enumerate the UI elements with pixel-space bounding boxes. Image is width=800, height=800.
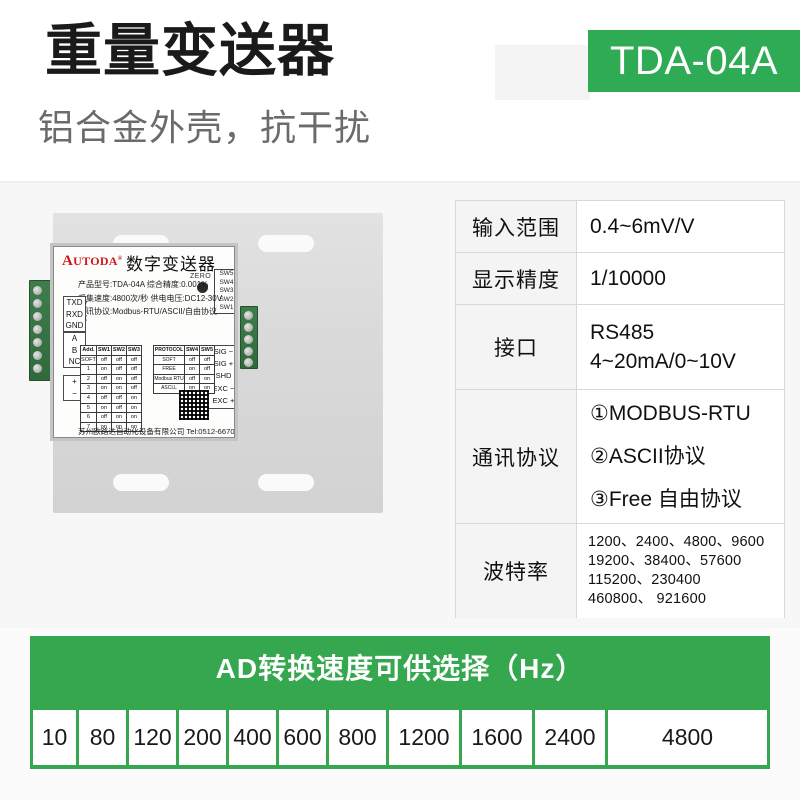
page-title: 重量变送器 bbox=[45, 23, 335, 80]
spec-value: 1/10000 bbox=[577, 253, 784, 304]
terminal-group-rs232: TXD RXD GND bbox=[63, 296, 86, 332]
ad-speed-cell[interactable]: 4800 bbox=[608, 710, 767, 765]
ad-speed-cell[interactable]: 1200 bbox=[389, 710, 459, 765]
ad-speed-cell[interactable]: 10 bbox=[33, 710, 76, 765]
specification-table: 输入范围 0.4~6mV/V 显示精度 1/10000 接口 RS485 4~2… bbox=[455, 200, 785, 618]
ad-speed-cell[interactable]: 1600 bbox=[462, 710, 532, 765]
protocol-dip-table: PROTOCOL SW4 SW5 SOFT offoff FREE onoff … bbox=[153, 345, 215, 394]
device-spec-text: 产品型号:TDA-04A 综合精度:0.001% 采集速度:4800次/秒 供电… bbox=[78, 278, 222, 319]
bracket-slot bbox=[258, 474, 314, 491]
spec-value: ①MODBUS-RTU ②ASCII协议 ③Free 自由协议 bbox=[577, 390, 784, 523]
ad-speed-cell[interactable]: 200 bbox=[179, 710, 226, 765]
table-row: 波特率 1200、2400、4800、9600 19200、38400、5760… bbox=[456, 524, 784, 618]
ad-speed-cell[interactable]: 600 bbox=[279, 710, 326, 765]
ad-speed-cell[interactable]: 120 bbox=[129, 710, 176, 765]
table-row: 1on offoff bbox=[81, 365, 142, 375]
bracket-slot bbox=[258, 235, 314, 252]
spec-key: 输入范围 bbox=[456, 201, 577, 252]
address-dip-table: Add. SW1 SW2 SW3 SOFToff offoff 1on offo… bbox=[80, 345, 142, 432]
spec-value: 1200、2400、4800、9600 19200、38400、57600 11… bbox=[577, 524, 784, 618]
page-header: 重量变送器 铝合金外壳，抗干扰 TDA-04A bbox=[0, 0, 800, 183]
product-detail-band: AUTODA® 数字变送器 ZERO SW5 SW4 SW3 SW2 SW1 产… bbox=[0, 183, 800, 628]
right-terminal-block bbox=[240, 306, 258, 369]
page-subtitle: 铝合金外壳，抗干扰 bbox=[38, 110, 371, 146]
ad-speed-panel: AD转换速度可供选择（Hz） 10 80 120 200 400 600 800… bbox=[30, 636, 770, 769]
left-terminal-block bbox=[29, 280, 51, 381]
table-row: FREE onoff bbox=[154, 365, 215, 375]
spec-key: 通讯协议 bbox=[456, 390, 577, 523]
device-photo: AUTODA® 数字变送器 ZERO SW5 SW4 SW3 SW2 SW1 产… bbox=[28, 207, 408, 527]
spec-key: 波特率 bbox=[456, 524, 577, 618]
brand-logo: AUTODA® bbox=[62, 253, 123, 270]
table-row: SOFT offoff bbox=[154, 355, 215, 365]
bracket-slot bbox=[113, 474, 169, 491]
model-badge: TDA-04A bbox=[588, 30, 800, 92]
table-row: 接口 RS485 4~20mA/0~10V bbox=[456, 305, 784, 390]
table-row: Modbus RTU offon bbox=[154, 374, 215, 384]
ad-speed-cell[interactable]: 2400 bbox=[535, 710, 605, 765]
table-row: 2off onoff bbox=[81, 374, 142, 384]
table-row: 5on offon bbox=[81, 403, 142, 413]
device-front-panel: AUTODA® 数字变送器 ZERO SW5 SW4 SW3 SW2 SW1 产… bbox=[53, 246, 235, 438]
disp-label: DISP bbox=[53, 263, 56, 285]
table-row: 3on onoff bbox=[81, 384, 142, 394]
ad-speed-cells: 10 80 120 200 400 600 800 1200 1600 2400… bbox=[33, 710, 767, 765]
spec-value: RS485 4~20mA/0~10V bbox=[577, 305, 784, 389]
spec-key: 显示精度 bbox=[456, 253, 577, 304]
spec-value: 0.4~6mV/V bbox=[577, 201, 784, 252]
ad-speed-title: AD转换速度可供选择（Hz） bbox=[30, 647, 770, 687]
ad-speed-cell[interactable]: 400 bbox=[229, 710, 276, 765]
table-row: Add. SW1 SW2 SW3 bbox=[81, 346, 142, 356]
product-spec-page: 重量变送器 铝合金外壳，抗干扰 TDA-04A bbox=[0, 0, 800, 800]
ad-speed-cell[interactable]: 800 bbox=[329, 710, 386, 765]
table-row: 4off offon bbox=[81, 393, 142, 403]
table-row: 通讯协议 ①MODBUS-RTU ②ASCII协议 ③Free 自由协议 bbox=[456, 390, 784, 524]
header-decorative-block bbox=[495, 45, 590, 100]
table-row: 6off onon bbox=[81, 413, 142, 423]
table-row: 输入范围 0.4~6mV/V bbox=[456, 201, 784, 253]
table-row: SOFToff offoff bbox=[81, 355, 142, 365]
table-row: 显示精度 1/10000 bbox=[456, 253, 784, 305]
device-product-name: 数字变送器 bbox=[126, 250, 216, 275]
table-row: PROTOCOL SW4 SW5 bbox=[154, 346, 215, 356]
ad-speed-cell[interactable]: 80 bbox=[79, 710, 126, 765]
company-footer: 苏州欧路达自动化设备有限公司 Tel:0512-66706550 bbox=[78, 426, 235, 437]
qr-code bbox=[179, 390, 209, 420]
spec-key: 接口 bbox=[456, 305, 577, 389]
